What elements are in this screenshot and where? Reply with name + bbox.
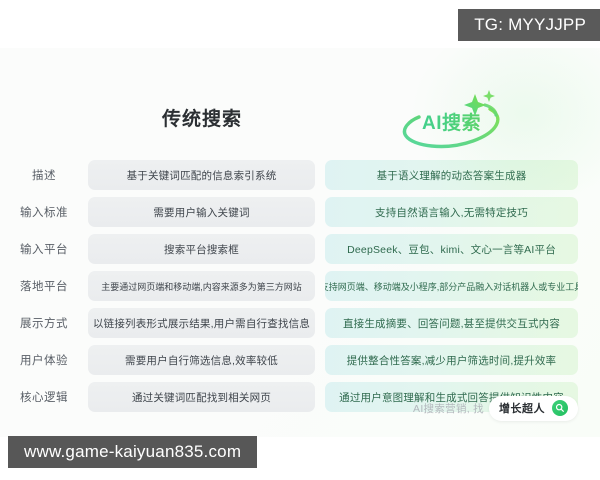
comparison-card: 传统搜索 — [0, 48, 600, 437]
sparkle-small-icon — [483, 90, 495, 102]
footer-brand-line: AI搜索营销, 找 增长超人 — [413, 396, 578, 421]
cell-traditional: 主要通过网页端和移动端,内容来源多为第三方网站 — [88, 271, 315, 301]
table-row: 输入平台 搜索平台搜索框 DeepSeek、豆包、kimi、文心一言等AI平台 — [0, 234, 600, 264]
row-label: 用户体验 — [0, 352, 88, 368]
brand-name: 增长超人 — [499, 400, 545, 416]
cell-ai: 基于语义理解的动态答案生成器 — [325, 160, 578, 190]
comparison-table: 描述 基于关键词匹配的信息索引系统 基于语义理解的动态答案生成器 输入标准 需要… — [0, 160, 600, 419]
row-label: 落地平台 — [0, 278, 88, 294]
cell-ai: DeepSeek、豆包、kimi、文心一言等AI平台 — [325, 234, 578, 264]
cell-traditional: 需要用户自行筛选信息,效率较低 — [88, 345, 315, 375]
table-row: 用户体验 需要用户自行筛选信息,效率较低 提供整合性答案,减少用户筛选时间,提升… — [0, 345, 600, 375]
cell-ai: 支持网页端、移动端及小程序,部分产品融入对话机器人或专业工具 — [325, 271, 578, 301]
table-row: 展示方式 以链接列表形式展示结果,用户需自行查找信息 直接生成摘要、回答问题,甚… — [0, 308, 600, 338]
row-label: 描述 — [0, 167, 88, 183]
row-label: 输入平台 — [0, 241, 88, 257]
telegram-watermark-badge: TG: MYYJJPP — [458, 9, 600, 41]
cell-traditional: 需要用户输入关键词 — [88, 197, 315, 227]
cell-ai: 直接生成摘要、回答问题,甚至提供交互式内容 — [325, 308, 578, 338]
table-row: 描述 基于关键词匹配的信息索引系统 基于语义理解的动态答案生成器 — [0, 160, 600, 190]
ai-search-label: AI搜索 — [393, 108, 511, 135]
cell-traditional: 基于关键词匹配的信息索引系统 — [88, 160, 315, 190]
site-url-watermark: www.game-kaiyuan835.com — [8, 436, 257, 468]
footer-prefix-text: AI搜索营销, 找 — [413, 401, 484, 416]
row-label: 输入标准 — [0, 204, 88, 220]
table-row: 落地平台 主要通过网页端和移动端,内容来源多为第三方网站 支持网页端、移动端及小… — [0, 271, 600, 301]
column-headers: 传统搜索 — [0, 48, 600, 166]
ai-search-logo: AI搜索 — [393, 84, 511, 154]
cell-ai: 提供整合性答案,减少用户筛选时间,提升效率 — [325, 345, 578, 375]
row-label: 展示方式 — [0, 315, 88, 331]
brand-pill[interactable]: 增长超人 — [489, 396, 578, 421]
cell-ai: 支持自然语言输入,无需特定技巧 — [325, 197, 578, 227]
search-glyph-icon — [555, 403, 565, 413]
cell-traditional: 搜索平台搜索框 — [88, 234, 315, 264]
table-row: 输入标准 需要用户输入关键词 支持自然语言输入,无需特定技巧 — [0, 197, 600, 227]
header-traditional-search: 传统搜索 — [88, 104, 316, 131]
header-ai-search: AI搜索 — [325, 84, 578, 156]
search-icon[interactable] — [552, 400, 568, 416]
cell-traditional: 通过关键词匹配找到相关网页 — [88, 382, 315, 412]
cell-traditional: 以链接列表形式展示结果,用户需自行查找信息 — [88, 308, 315, 338]
row-label: 核心逻辑 — [0, 389, 88, 405]
